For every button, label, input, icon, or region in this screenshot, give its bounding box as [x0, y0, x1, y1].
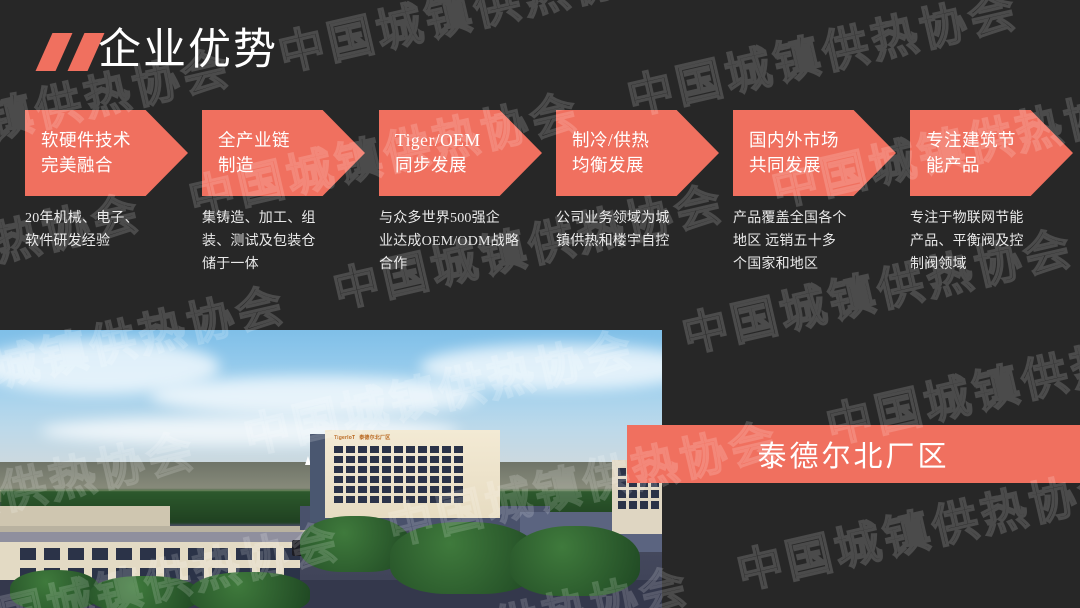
advantage-arrow-3[interactable]: Tiger/OEM 同步发展	[379, 110, 542, 196]
advantage-desc-4: 公司业务领域为城 镇供热和楼宇自控	[556, 207, 708, 253]
advantage-title-3: Tiger/OEM 同步发展	[379, 128, 542, 178]
advantage-title-4: 制冷/供热 均衡发展	[556, 128, 719, 178]
page-title: 企业优势	[98, 22, 278, 80]
advantage-arrow-2[interactable]: 全产业链 制造	[202, 110, 365, 196]
advantage-title-6: 专注建筑节 能产品	[910, 128, 1073, 178]
advantage-desc-2: 集铸造、加工、组 装、测试及包装仓 储于一体	[202, 207, 354, 276]
tree-clump	[90, 576, 200, 608]
advantage-arrow-4[interactable]: 制冷/供热 均衡发展	[556, 110, 719, 196]
advantage-desc-5: 产品覆盖全国各个 地区 远销五十多 个国家和地区	[733, 207, 885, 276]
advantage-desc-1: 20年机械、电子、 软件研发经验	[25, 207, 177, 253]
building-sign-cn: 泰德尔北厂区	[359, 435, 390, 441]
building-sign-brand: TigerIoT	[334, 435, 355, 441]
tower-window-grid	[334, 446, 463, 503]
advantage-desc-3: 与众多世界500强企 业达成OEM/ODM战略 合作	[379, 207, 531, 276]
advantage-title-1: 软硬件技术 完美融合	[25, 128, 188, 178]
advantage-title-5: 国内外市场 共同发展	[733, 128, 896, 178]
advantages-row: 软硬件技术 完美融合 20年机械、电子、 软件研发经验 全产业链 制造 集铸造、…	[0, 110, 1080, 290]
slide-header: 企业优势	[0, 0, 1080, 100]
advantage-title-2: 全产业链 制造	[202, 128, 365, 178]
photo-caption-label: 泰德尔北厂区	[757, 433, 949, 475]
advantage-arrow-5[interactable]: 国内外市场 共同发展	[733, 110, 896, 196]
tree-clump	[190, 572, 310, 608]
advantage-arrow-6[interactable]: 专注建筑节 能产品	[910, 110, 1073, 196]
photo-caption-band: 泰德尔北厂区	[627, 425, 1080, 483]
advantage-desc-6: 专注于物联网节能 产品、平衡阀及控 制阀领域	[910, 207, 1062, 276]
factory-photo: TigerIoT泰德尔北厂区 TigerIoT	[0, 330, 662, 608]
slide-root: TigerIoT泰德尔北厂区 TigerIoT	[0, 0, 1080, 608]
tree-clump	[510, 526, 640, 596]
advantage-arrow-1[interactable]: 软硬件技术 完美融合	[25, 110, 188, 196]
slash-mark-1-icon	[36, 33, 73, 71]
building-sign: TigerIoT泰德尔北厂区	[330, 434, 390, 441]
tree-clump	[10, 570, 100, 608]
warehouse-roof	[0, 532, 310, 542]
cloud	[150, 376, 480, 416]
